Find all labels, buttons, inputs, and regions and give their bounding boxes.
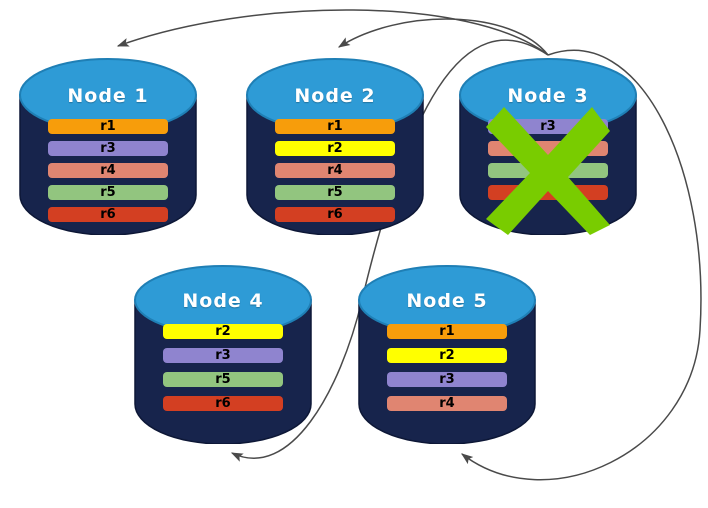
replica-bar: r1 [387, 324, 507, 339]
node-3[interactable]: Node 3 r3 [458, 55, 638, 235]
node-2[interactable]: Node 2 r1 r2 r4 r5 r6 [245, 55, 425, 235]
replica-bar: r6 [275, 207, 395, 222]
replica-bar: r6 [163, 396, 283, 411]
replica-bar: r1 [275, 119, 395, 134]
replica-bar: r4 [48, 163, 168, 178]
arrow-node3-to-node1 [118, 10, 548, 55]
replica-bar: r5 [275, 185, 395, 200]
replica-bar: r1 [48, 119, 168, 134]
replica-bar: r3 [163, 348, 283, 363]
node-1[interactable]: Node 1 r1 r3 r4 r5 r6 [18, 55, 198, 235]
replica-bar: r5 [163, 372, 283, 387]
replica-bar: r4 [387, 396, 507, 411]
replica-bar: r4 [275, 163, 395, 178]
replica-bar: r6 [48, 207, 168, 222]
replica-bar: r3 [48, 141, 168, 156]
replica-bar: r2 [275, 141, 395, 156]
replica-bar: r3 [387, 372, 507, 387]
node-4[interactable]: Node 4 r2 r3 r5 r6 [133, 262, 313, 444]
replica-bar: r5 [48, 185, 168, 200]
failure-x-icon [486, 107, 610, 235]
diagram-canvas: Node 1 r1 r3 r4 r5 r6 Node 2 r1 r2 r4 r5… [0, 0, 708, 508]
replica-bar: r2 [387, 348, 507, 363]
replica-bar: r2 [163, 324, 283, 339]
node-5[interactable]: Node 5 r1 r2 r3 r4 [357, 262, 537, 444]
